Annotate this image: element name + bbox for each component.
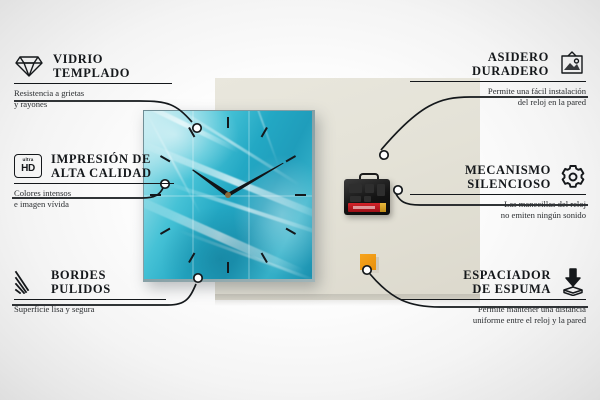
picture-hanger-icon — [558, 51, 586, 77]
battery-label-stripe — [353, 206, 375, 209]
feature-mecanismo-silencioso: MECANISMO SILENCIOSO Las manecillas del … — [410, 163, 586, 221]
feature-header: ultra HD IMPRESIÓN DE ALTA CALIDAD — [14, 152, 190, 180]
clock-tick — [227, 262, 229, 273]
feature-divider — [410, 81, 586, 82]
feature-title: ASIDERO DURADERO — [472, 50, 549, 78]
mechanism-detail — [350, 196, 361, 202]
feature-header: BORDES PULIDOS — [14, 268, 190, 296]
feature-header: ASIDERO DURADERO — [410, 50, 586, 78]
battery-positive-cap — [380, 203, 386, 212]
feature-divider — [410, 194, 586, 195]
feature-description: Resistencia a grietas y rayones — [14, 88, 190, 110]
polished-edges-icon — [14, 270, 42, 294]
feature-divider — [400, 299, 586, 300]
gear-icon — [560, 164, 586, 190]
clock-tick — [227, 117, 229, 128]
mechanism-detail — [377, 184, 385, 196]
feature-title: ESPACIADOR DE ESPUMA — [463, 268, 551, 296]
feature-description: Permite mantener una distancia uniforme … — [400, 304, 586, 326]
mechanism-detail — [349, 184, 362, 193]
feature-espaciador-de-espuma: ESPACIADOR DE ESPUMA Permite mantener un… — [400, 268, 586, 326]
feature-asidero-duradero: ASIDERO DURADERO Permite una fácil insta… — [410, 50, 586, 108]
clock-center-pin — [225, 192, 231, 198]
feature-description: Superficie lisa y segura — [14, 304, 190, 315]
feature-description: Permite una fácil instalación del reloj … — [410, 86, 586, 108]
feature-title: IMPRESIÓN DE ALTA CALIDAD — [51, 152, 152, 180]
feature-impresion-alta-calidad: ultra HD IMPRESIÓN DE ALTA CALIDAD Color… — [14, 152, 190, 210]
mechanism-detail — [364, 196, 371, 202]
spacer-bottom-face — [363, 270, 379, 273]
feature-header: VIDRIO TEMPLADO — [14, 52, 190, 80]
feature-title: BORDES PULIDOS — [51, 268, 111, 296]
foam-spacer — [360, 254, 379, 273]
feature-description: Colores intensos e imagen vívida — [14, 188, 190, 210]
mechanism-body — [344, 179, 390, 215]
aa-battery — [348, 203, 386, 212]
feature-divider — [14, 183, 174, 184]
mechanism-detail — [365, 184, 374, 193]
feature-header: MECANISMO SILENCIOSO — [410, 163, 586, 191]
feature-header: ESPACIADOR DE ESPUMA — [400, 268, 586, 296]
feature-bordes-pulidos: BORDES PULIDOS Superficie lisa y segura — [14, 268, 190, 315]
clock-mechanism — [344, 173, 390, 215]
press-down-icon — [560, 268, 586, 296]
spacer-top-face — [360, 254, 376, 270]
feature-vidrio-templado: VIDRIO TEMPLADO Resistencia a grietas y … — [14, 52, 190, 110]
feature-divider — [14, 299, 166, 300]
ultra-hd-icon-main-label: HD — [21, 164, 35, 174]
ultra-hd-icon: ultra HD — [14, 154, 42, 178]
clock-tick — [295, 194, 306, 196]
feature-title: VIDRIO TEMPLADO — [53, 52, 130, 80]
feature-divider — [14, 83, 172, 84]
diamond-icon — [14, 54, 44, 78]
feature-title: MECANISMO SILENCIOSO — [465, 163, 551, 191]
feature-description: Las manecillas del reloj no emiten ningú… — [410, 199, 586, 221]
product-infographic: VIDRIO TEMPLADO Resistencia a grietas y … — [0, 0, 600, 400]
